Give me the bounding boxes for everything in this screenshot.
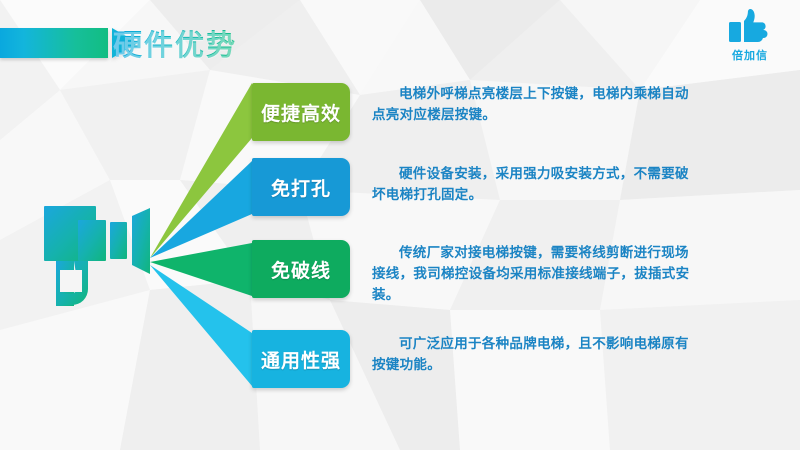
page-title: 硬件优势 [113, 22, 237, 64]
description-3: 传统厂家对接电梯按键，需要将线剪断进行现场接线，我司梯控设备均采用标准接线端子，… [372, 243, 702, 306]
device-icon [38, 198, 163, 317]
brand-name: 倍加信 [716, 47, 784, 63]
brand-logo: 倍加信 [716, 6, 784, 63]
label-box-3[interactable]: 免破线 [252, 240, 350, 298]
slide-canvas: 硬件优势 倍加信 便捷高效 免打孔 免破线 通用性强 电梯外呼梯点亮楼层上下按键… [0, 0, 800, 450]
description-2: 硬件设备安装，采用强力吸安装方式，不需要破坏电梯打孔固定。 [372, 164, 702, 206]
label-box-2[interactable]: 免打孔 [252, 158, 350, 216]
header-accent-bar [0, 28, 108, 58]
thumbs-up-icon [727, 6, 773, 46]
label-box-1[interactable]: 便捷高效 [252, 83, 350, 141]
label-box-4[interactable]: 通用性强 [252, 330, 350, 388]
description-1: 电梯外呼梯点亮楼层上下按键，电梯内乘梯自动点亮对应楼层按键。 [372, 84, 702, 126]
description-4: 可广泛应用于各种品牌电梯，且不影响电梯原有按键功能。 [372, 334, 702, 376]
